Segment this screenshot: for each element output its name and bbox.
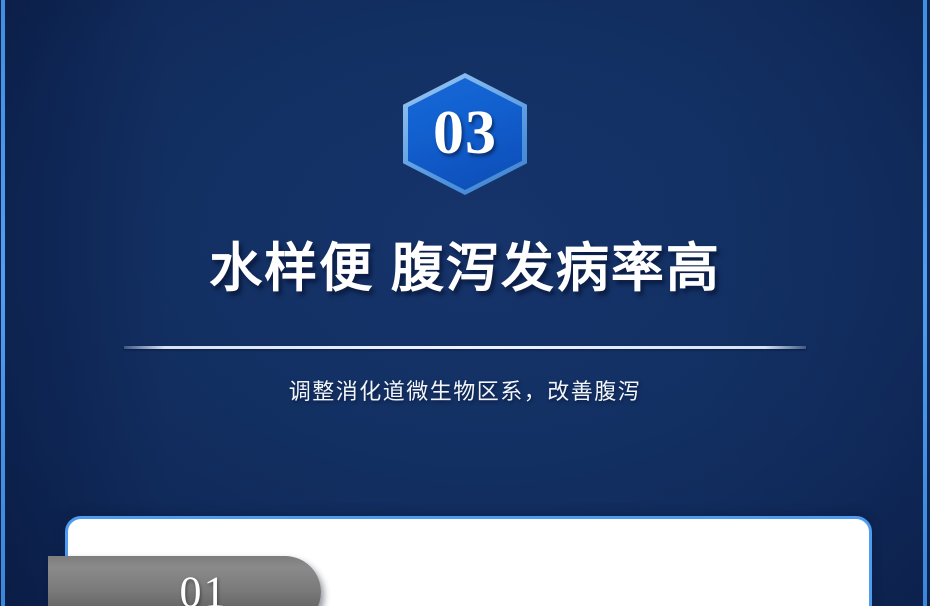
presentation-slide: 03 水样便 腹泻发病率高 调整消化道微生物区系，改善腹泻 01 xyxy=(0,0,930,606)
section-tab-number: 01 xyxy=(48,567,321,606)
title-divider xyxy=(124,346,806,349)
page-subtitle: 调整消化道微生物区系，改善腹泻 xyxy=(0,374,930,406)
right-accent-rail xyxy=(923,0,927,606)
page-title: 水样便 腹泻发病率高 xyxy=(0,240,930,298)
section-tab: 01 xyxy=(48,556,321,606)
section-number-badge: 03 xyxy=(403,73,527,195)
left-accent-rail xyxy=(1,0,5,606)
badge-number: 03 xyxy=(403,73,527,195)
